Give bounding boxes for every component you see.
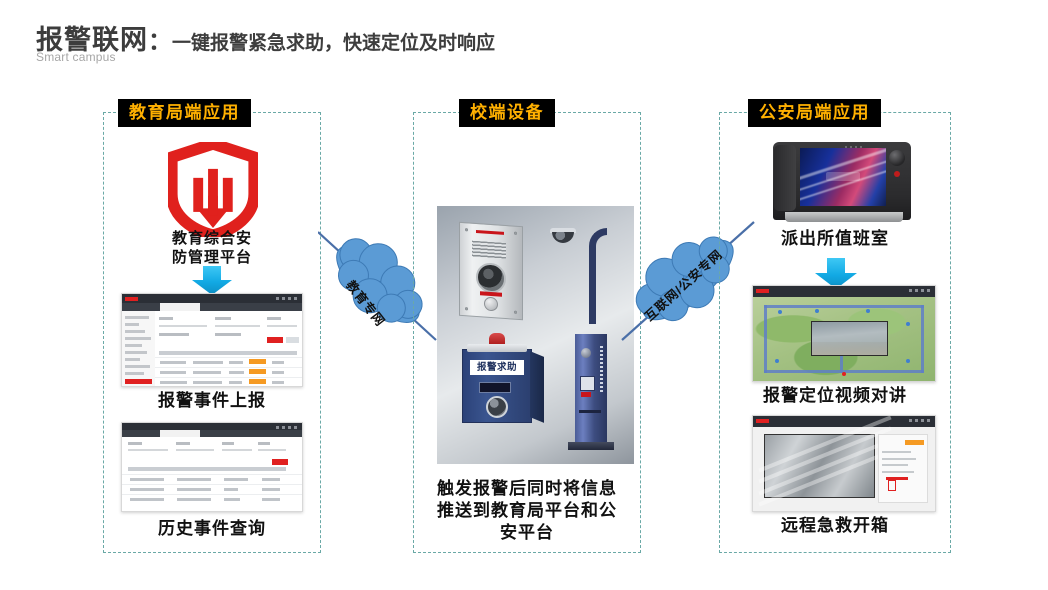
monitor-base	[785, 212, 903, 222]
pole-button	[581, 348, 591, 358]
window-controls	[909, 419, 931, 422]
window-controls	[276, 297, 298, 300]
screenshot-body	[155, 311, 302, 386]
monitor-knob[interactable]	[889, 150, 905, 166]
live-video-inset	[811, 321, 888, 357]
emergency-call-pole	[575, 334, 607, 444]
duty-room-monitor	[773, 142, 911, 220]
history-event-query-screenshot[interactable]	[121, 422, 303, 512]
caption-alarm-event-report: 报警事件上报	[118, 390, 306, 411]
remote-emergency-box-screenshot[interactable]	[752, 415, 936, 512]
alarm-help-terminal: 报警求助	[462, 349, 532, 423]
brand-mark	[756, 289, 769, 293]
camera-lens	[476, 262, 506, 294]
caption-education-platform: 教育综合安 防管理平台	[118, 230, 306, 268]
pole-vertical-text	[600, 346, 603, 392]
power-indicator-icon	[894, 171, 900, 177]
alarm-location-video-intercom-screenshot[interactable]	[752, 285, 936, 382]
caption-duty-room: 派出所值班室	[724, 228, 946, 249]
caption-alarm-location-video-intercom: 报警定位视频对讲	[724, 385, 946, 406]
shield-logo	[168, 142, 258, 237]
panel-header-education-bureau: 教育局端应用	[118, 99, 251, 127]
caption-history-event-query: 历史事件查询	[118, 518, 306, 539]
panel-header-public-security-bureau: 公安局端应用	[748, 99, 881, 127]
camera-pole-arm	[589, 228, 607, 324]
monitor-left-panel	[774, 145, 796, 211]
campus-alarm-devices-photo: 报警求助	[437, 206, 634, 464]
video-feed	[764, 434, 875, 498]
panel-header-campus-devices: 校端设备	[459, 99, 555, 127]
call-button-label	[480, 291, 502, 297]
remote-box-view	[753, 427, 935, 511]
wall-intercom-device	[459, 222, 523, 320]
page-title-colon: ：	[148, 21, 172, 56]
brand-watermark	[826, 172, 860, 181]
active-tab	[160, 430, 200, 437]
brand-mark	[476, 230, 504, 235]
screenshot-topbar	[753, 286, 935, 297]
pole-slot	[579, 410, 601, 413]
emergency-button	[486, 396, 508, 418]
brand-mark	[581, 392, 591, 397]
brand-mark	[756, 419, 769, 423]
speaker-grille	[472, 241, 506, 259]
campus-map-view	[753, 297, 935, 381]
screenshot-tabbar	[122, 303, 302, 311]
screenshot-topbar	[122, 294, 302, 303]
window-controls	[276, 426, 298, 429]
caption-campus-push-description: 触发报警后同时将信息 推送到教育局平台和公 安平台	[423, 478, 631, 544]
caption-remote-emergency-box: 远程急救开箱	[724, 515, 946, 536]
page-title-subtitle: 一键报警紧急求助，快速定位及时响应	[172, 28, 495, 55]
pole-base-plate	[568, 442, 614, 450]
brand-mark	[125, 297, 138, 301]
window-controls	[909, 289, 931, 292]
device-side-face	[530, 351, 544, 423]
device-top-cap	[467, 344, 527, 352]
call-button	[484, 297, 498, 312]
active-tab	[160, 303, 200, 311]
ptz-dome-camera	[550, 228, 576, 242]
alarm-event-report-screenshot[interactable]	[121, 293, 303, 387]
screenshot-tabbar	[122, 430, 302, 437]
highlight-box	[888, 480, 896, 491]
monitor-screen	[800, 148, 886, 206]
control-panel	[878, 434, 927, 503]
screenshot-sidebar	[122, 311, 156, 386]
page-title-latin: Smart campus	[36, 50, 116, 64]
screenshot-topbar	[753, 416, 935, 427]
device-display	[479, 382, 511, 393]
screenshot-body	[122, 437, 302, 511]
pole-screen	[580, 376, 595, 391]
screenshot-topbar	[122, 423, 302, 430]
alarm-help-label: 报警求助	[470, 360, 524, 375]
